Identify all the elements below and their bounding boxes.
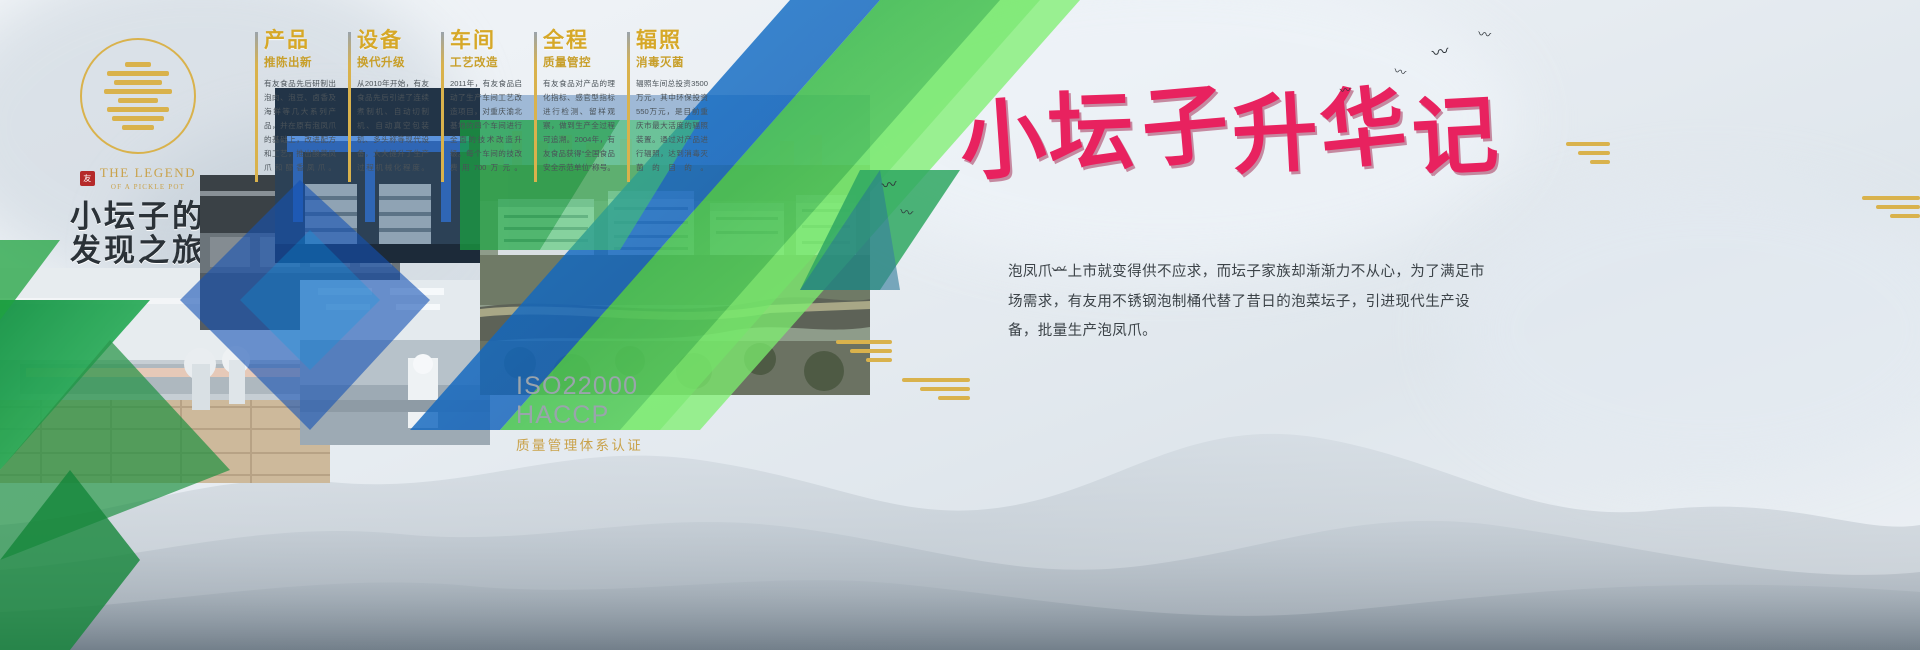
card-title: 车间 [450, 30, 522, 52]
card-body: 2011年，有友食品启动了生产车间工艺改造项目，对重庆渝北基地的四个车间进行全面… [450, 77, 522, 175]
card-body: 有友食品对产品的理化指标、感官型指标进行检测、留样观察，做到生产全过程可追溯。2… [543, 77, 615, 175]
card-subtitle: 消毒灭菌 [636, 54, 708, 70]
card-title: 设备 [357, 30, 429, 52]
hero-char-3: 子 [1138, 80, 1231, 173]
card-rail-icon [255, 32, 258, 182]
flying-birds-icon: 〰 [899, 205, 914, 220]
flying-birds-icon: 〰 [881, 177, 898, 194]
card-rail-icon [441, 32, 444, 182]
certification-block: ISO22000 HACCP 质量管理体系认证 [516, 372, 643, 454]
flying-birds-icon: 〰 [1339, 85, 1351, 97]
body-paragraph: 泡凤爪一上市就变得供不应求，而坛子家族却渐渐力不从心，为了满足市场需求，有友用不… [1008, 258, 1486, 347]
card-body: 从2010年开始，有友食品先后引进了连续煮制机、自动切制机、自动真空包装机、多头… [357, 77, 429, 175]
hero-char-2: 坛 [1047, 89, 1136, 178]
flying-birds-icon: 〰 [1477, 27, 1492, 42]
card-title: 产品 [264, 30, 336, 52]
flying-birds-icon: 〰 [1051, 261, 1067, 277]
certification-line2: HACCP [516, 401, 643, 430]
card-rail-icon [627, 32, 630, 182]
process-card-irradiation[interactable]: 辐照 消毒灭菌 辐照车间总投资3500万元，其中环保投资550万元，是目前重庆市… [627, 30, 708, 175]
process-card-workshop[interactable]: 车间 工艺改造 2011年，有友食品启动了生产车间工艺改造项目，对重庆渝北基地的… [441, 30, 522, 175]
chinese-cloud-motif-icon [836, 340, 892, 367]
chinese-cloud-motif-icon [902, 378, 970, 405]
chinese-cloud-motif-icon [1566, 142, 1610, 169]
process-cards: 产品 推陈出新 有友食品先后研制出泡肉、泡豆、卤香及海鲜等几大系列产品，并在原有… [255, 30, 708, 175]
chinese-cloud-motif-icon [1862, 196, 1920, 223]
card-subtitle: 推陈出新 [264, 54, 336, 70]
process-card-product[interactable]: 产品 推陈出新 有友食品先后研制出泡肉、泡豆、卤香及海鲜等几大系列产品，并在原有… [255, 30, 336, 175]
certification-line1: ISO22000 [516, 372, 643, 401]
card-rail-icon [348, 32, 351, 182]
certification-cn: 质量管理体系认证 [516, 434, 643, 454]
hero-char-6: 记 [1410, 92, 1500, 182]
poster-canvas: 友 THE LEGEND OF A PICKLE POT 小坛子的 发现之旅 A… [0, 0, 1920, 650]
flying-birds-icon: 〰 [1430, 42, 1450, 62]
card-title: 全程 [543, 30, 615, 52]
hero-char-1: 小 [957, 95, 1049, 187]
process-card-equipment[interactable]: 设备 换代升级 从2010年开始，有友食品先后引进了连续煮制机、自动切制机、自动… [348, 30, 429, 175]
card-rail-icon [534, 32, 537, 182]
process-card-quality[interactable]: 全程 质量管控 有友食品对产品的理化指标、感官型指标进行检测、留样观察，做到生产… [534, 30, 615, 175]
card-title: 辐照 [636, 30, 708, 52]
card-body: 辐照车间总投资3500万元，其中环保投资550万元，是目前重庆市最大活度的辐照装… [636, 77, 708, 175]
hero-title: 小 坛 子 升 华 记 [960, 88, 1500, 208]
hero-char-5: 华 [1316, 82, 1411, 177]
card-subtitle: 工艺改造 [450, 54, 522, 70]
card-subtitle: 换代升级 [357, 54, 429, 70]
card-subtitle: 质量管控 [543, 54, 615, 70]
card-body: 有友食品先后研制出泡肉、泡豆、卤香及海鲜等几大系列产品，并在原有泡凤爪的基础上，… [264, 77, 336, 175]
hero-char-4: 升 [1230, 90, 1320, 180]
